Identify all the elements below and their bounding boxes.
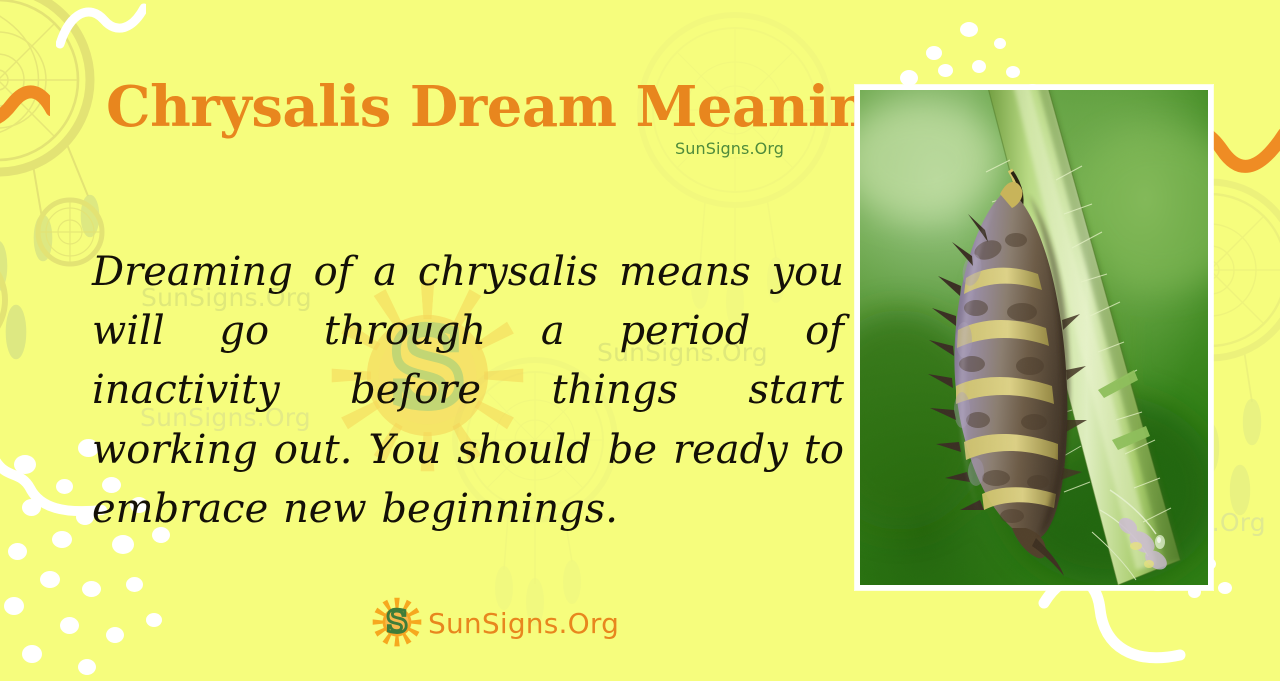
svg-text:S: S	[386, 604, 408, 640]
chrysalis-photo	[860, 90, 1208, 585]
sun-logo-icon: S	[370, 596, 424, 650]
body-text: Dreaming of a chrysalis means you will g…	[92, 243, 844, 539]
footer-brand[interactable]: S SunSigns.Org	[370, 596, 619, 650]
footer-brand-text: SunSigns.Org	[428, 607, 619, 640]
orange-squiggle-left	[0, 82, 50, 152]
poster-canvas: S SunSigns.Org SunSigns.Org SunSigns.Org…	[0, 0, 1280, 681]
chrysalis-photo-frame	[855, 85, 1213, 590]
white-squiggle-top-left	[56, 0, 146, 50]
page-title: Chrysalis Dream Meaning	[106, 78, 908, 136]
title-credit: SunSigns.Org	[675, 139, 784, 158]
